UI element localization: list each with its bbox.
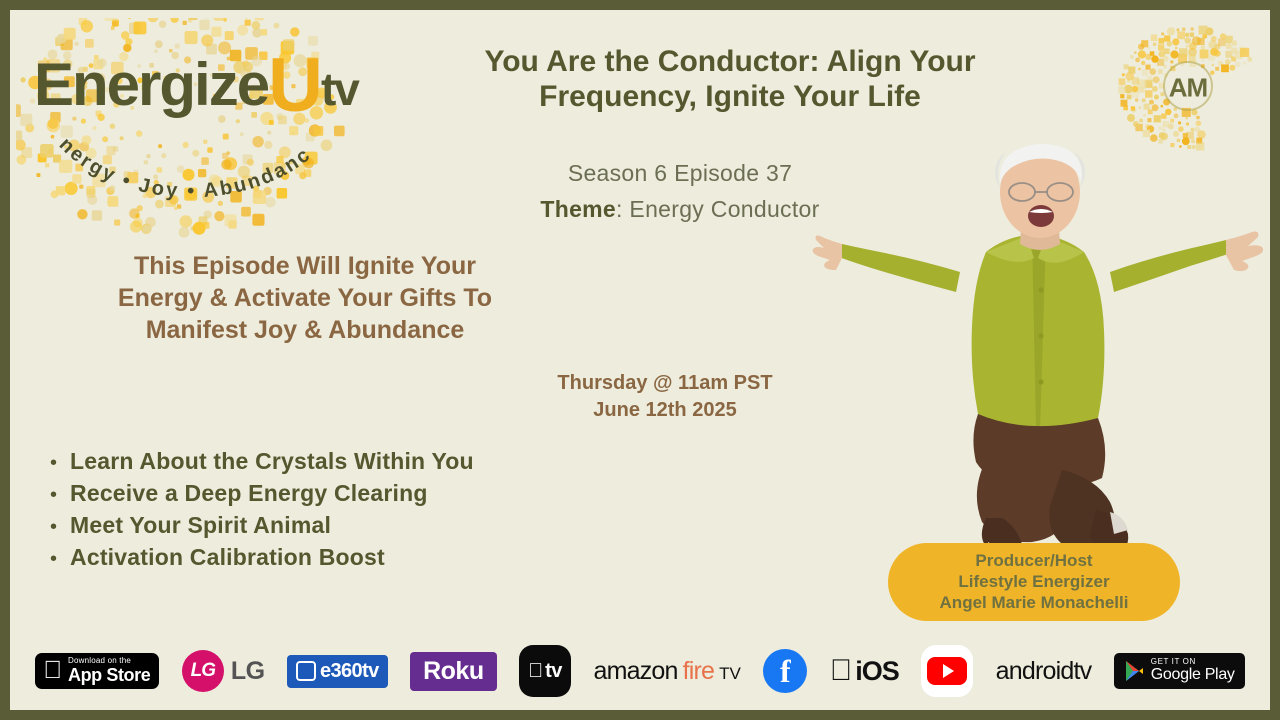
tagline-line-3: Manifest Joy & Abundance [50,314,560,346]
platform-apple-tv[interactable]:  tv [519,645,571,697]
list-item-label: Activation Calibration Boost [70,544,385,571]
am-monogram-mark: AM [1118,24,1258,152]
apple-tv-label: tv [545,660,562,683]
monogram-letters: AM [1169,73,1207,104]
platform-roku[interactable]: Roku [410,652,497,691]
logo-arc-tagline-text: Energy • Joy • Abundance [16,18,316,202]
google-play-badge[interactable]: GET IT ON Google Play [1114,653,1245,688]
apple-tv-badge[interactable]:  tv [519,645,571,697]
platform-google-play[interactable]: GET IT ON Google Play [1114,653,1245,688]
list-item: • Meet Your Spirit Animal [50,512,650,539]
fire-wordmark: fire [683,657,715,686]
fire-tv-suffix: TV [719,664,741,684]
host-credit-badge: Producer/Host Lifestyle Energizer Angel … [888,543,1180,621]
platform-facebook[interactable]: f [763,649,807,693]
tagline-line-2: Energy & Activate Your Gifts To [50,282,560,314]
lg-circle-icon: LG [182,650,224,692]
android-tv-logo[interactable]: androidtv [996,657,1092,686]
list-item: • Learn About the Crystals Within You [50,448,650,475]
episode-highlights: • Learn About the Crystals Within You • … [50,448,650,576]
theme-separator: : [616,196,629,222]
lg-wordmark: LG [231,657,265,686]
list-item-label: Receive a Deep Energy Clearing [70,480,428,507]
platform-logo-bar:  Download on the App Store LG LG e360tv… [10,640,1270,702]
host-subtitle: Lifestyle Energizer [958,572,1109,592]
amazon-fire-tv-logo[interactable]: amazon fire TV [593,657,740,686]
title-line-1: You Are the Conductor: Align Your [400,44,1060,79]
theme-value: Energy Conductor [629,196,819,222]
youtube-play-icon [927,657,967,685]
roku-badge[interactable]: Roku [410,652,497,691]
theme-label: Theme [540,196,616,222]
apple-icon:  [528,661,543,681]
ios-logo[interactable]:  iOS [830,656,899,687]
lg-logo[interactable]: LG LG [182,650,265,692]
app-store-line-2: App Store [68,666,150,684]
host-role: Producer/Host [975,551,1092,571]
bullet-marker-icon: • [50,485,57,505]
apple-icon:  [830,656,853,686]
e360tv-square-icon [296,661,316,681]
platform-app-store[interactable]:  Download on the App Store [35,653,159,689]
list-item: • Activation Calibration Boost [50,544,650,571]
play-triangle-icon [943,664,954,678]
android-tv-suffix: tv [1073,657,1091,685]
e360tv-label: e360tv [320,660,379,683]
episode-tagline: This Episode Will Ignite Your Energy & A… [50,250,560,346]
list-item-label: Learn About the Crystals Within You [70,448,474,475]
app-store-badge[interactable]:  Download on the App Store [35,653,159,689]
episode-title: You Are the Conductor: Align Your Freque… [400,44,1060,115]
youtube-icon[interactable] [921,645,973,697]
bullet-marker-icon: • [50,549,57,569]
platform-e360tv[interactable]: e360tv [287,655,388,688]
platform-android-tv[interactable]: androidtv [996,657,1092,686]
facebook-icon[interactable]: f [763,649,807,693]
list-item-label: Meet Your Spirit Animal [70,512,331,539]
energizeu-logo: EnergizeUtv Energy • Joy • Abundance [16,18,406,238]
e360tv-badge[interactable]: e360tv [287,655,388,688]
title-line-2: Frequency, Ignite Your Life [400,79,1060,114]
logo-arc-tagline: Energy • Joy • Abundance [16,18,406,238]
ios-label: iOS [855,656,899,687]
android-wordmark: android [996,657,1074,685]
amazon-wordmark: amazon [593,657,677,686]
platform-ios[interactable]:  iOS [830,656,899,687]
platform-lg[interactable]: LG LG [182,650,265,692]
google-play-triangle-icon [1124,660,1144,682]
bullet-marker-icon: • [50,517,57,537]
host-photo [810,140,1270,560]
apple-icon:  [43,658,62,683]
app-store-line-1: Download on the [68,657,150,665]
promo-poster: EnergizeUtv Energy • Joy • Abundance AM … [10,10,1270,710]
google-play-line-2: Google Play [1151,667,1235,684]
list-item: • Receive a Deep Energy Clearing [50,480,650,507]
tagline-line-1: This Episode Will Ignite Your [50,250,560,282]
host-name: Angel Marie Monachelli [940,593,1129,613]
platform-youtube[interactable] [921,645,973,697]
bullet-marker-icon: • [50,453,57,473]
platform-amazon-fire-tv[interactable]: amazon fire TV [593,657,740,686]
